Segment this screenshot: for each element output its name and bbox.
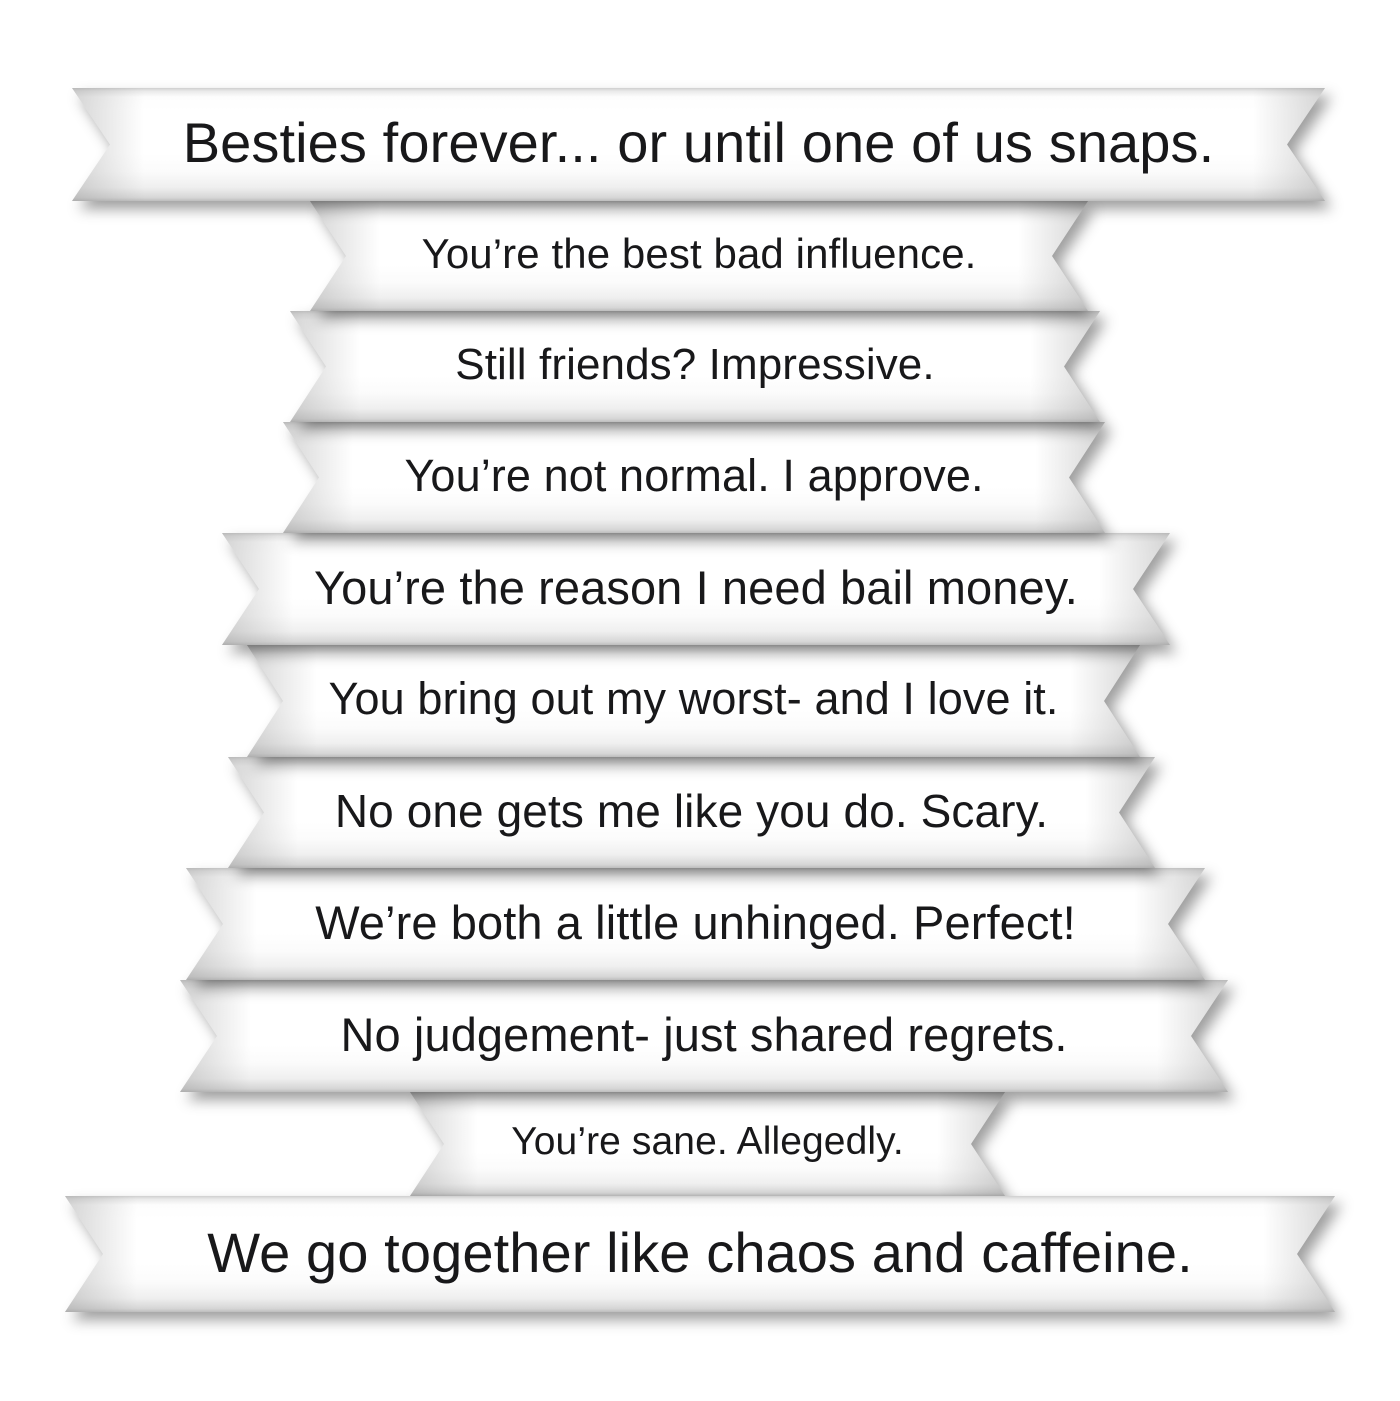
ribbon-label: You’re sane. Allegedly. — [410, 1092, 1005, 1196]
ribbon-banner: Besties forever... or until one of us sn… — [72, 88, 1325, 201]
ribbon-banner: We’re both a little unhinged. Perfect! — [186, 868, 1205, 980]
ribbon-label: Still friends? Impressive. — [290, 311, 1100, 422]
ribbon-banner: You’re not normal. I approve. — [283, 422, 1105, 533]
ribbon-banner: No judgement- just shared regrets. — [180, 980, 1228, 1092]
ribbon-banner: You’re the reason I need bail money. — [222, 533, 1170, 645]
ribbon-label: No one gets me like you do. Scary. — [228, 757, 1155, 868]
ribbon-banner: We go together like chaos and caffeine. — [65, 1196, 1335, 1312]
ribbon-label: You’re not normal. I approve. — [283, 422, 1105, 533]
ribbon-banner: You’re the best bad influence. — [310, 201, 1088, 311]
ribbon-label: No judgement- just shared regrets. — [180, 980, 1228, 1092]
ribbon-label: You’re the best bad influence. — [310, 201, 1088, 311]
ribbon-label: You bring out my worst- and I love it. — [247, 645, 1140, 757]
ribbon-banner: You’re sane. Allegedly. — [410, 1092, 1005, 1196]
ribbon-banner: You bring out my worst- and I love it. — [247, 645, 1140, 757]
ribbon-label: You’re the reason I need bail money. — [222, 533, 1170, 645]
ribbon-banner: Still friends? Impressive. — [290, 311, 1100, 422]
poster-canvas: Besties forever... or until one of us sn… — [0, 0, 1400, 1401]
ribbon-banner: No one gets me like you do. Scary. — [228, 757, 1155, 868]
ribbon-label: Besties forever... or until one of us sn… — [72, 88, 1325, 201]
ribbon-label: We’re both a little unhinged. Perfect! — [186, 868, 1205, 980]
ribbon-label: We go together like chaos and caffeine. — [65, 1196, 1335, 1312]
